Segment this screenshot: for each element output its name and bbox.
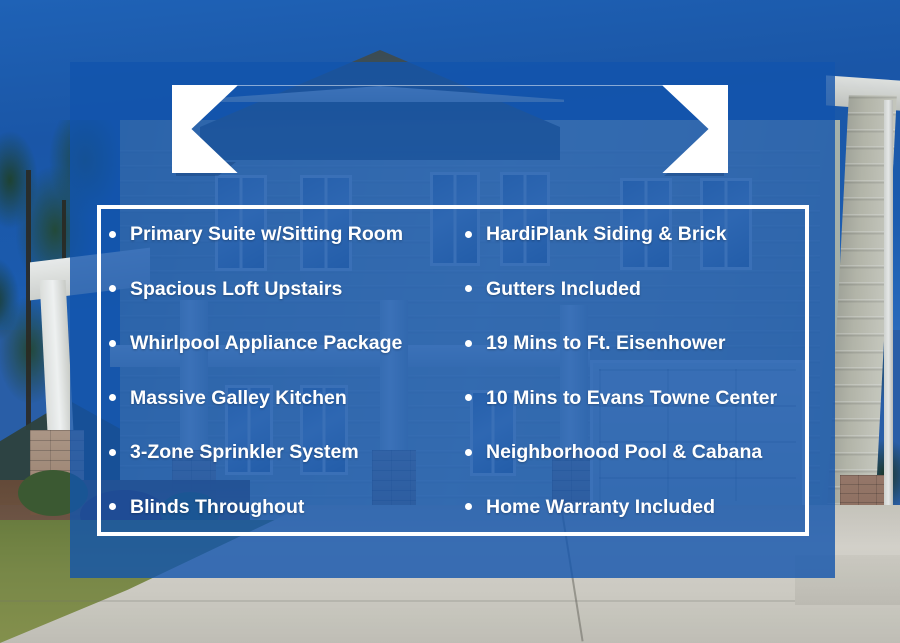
bullet-icon xyxy=(465,285,472,292)
feature-item: Neighborhood Pool & Cabana xyxy=(465,441,809,463)
feature-label: 3-Zone Sprinkler System xyxy=(130,441,359,463)
feature-item: Home Warranty Included xyxy=(465,496,809,518)
feature-label: Whirlpool Appliance Package xyxy=(130,332,402,354)
feature-label: Home Warranty Included xyxy=(486,496,715,518)
feature-label: Neighborhood Pool & Cabana xyxy=(486,441,762,463)
feature-item: Blinds Throughout xyxy=(109,496,453,518)
features-list: Primary Suite w/Sitting Room Spacious Lo… xyxy=(97,205,809,536)
feature-item: 3-Zone Sprinkler System xyxy=(109,441,453,463)
bullet-icon xyxy=(109,394,116,401)
feature-label: Massive Galley Kitchen xyxy=(130,387,347,409)
bullet-icon xyxy=(465,449,472,456)
bullet-icon xyxy=(465,394,472,401)
bullet-icon xyxy=(109,285,116,292)
bullet-icon xyxy=(109,340,116,347)
feature-label: Gutters Included xyxy=(486,278,641,300)
features-column-right: HardiPlank Siding & Brick Gutters Includ… xyxy=(453,223,809,518)
bullet-icon xyxy=(465,231,472,238)
feature-item: Gutters Included xyxy=(465,278,809,300)
feature-item: Spacious Loft Upstairs xyxy=(109,278,453,300)
bullet-icon xyxy=(109,503,116,510)
feature-label: 10 Mins to Evans Towne Center xyxy=(486,387,777,409)
feature-label: Primary Suite w/Sitting Room xyxy=(130,223,403,245)
bullet-icon xyxy=(465,340,472,347)
feature-item: HardiPlank Siding & Brick xyxy=(465,223,809,245)
feature-item: Whirlpool Appliance Package xyxy=(109,332,453,354)
bullet-icon xyxy=(109,449,116,456)
feature-item: 19 Mins to Ft. Eisenhower xyxy=(465,332,809,354)
plan-feature-graphic: Halton Plan Primary Suite w/Sitting Room… xyxy=(0,0,900,643)
bullet-icon xyxy=(465,503,472,510)
feature-item: 10 Mins to Evans Towne Center xyxy=(465,387,809,409)
bullet-icon xyxy=(109,231,116,238)
feature-label: 19 Mins to Ft. Eisenhower xyxy=(486,332,725,354)
features-column-left: Primary Suite w/Sitting Room Spacious Lo… xyxy=(97,223,453,518)
feature-item: Primary Suite w/Sitting Room xyxy=(109,223,453,245)
feature-label: Spacious Loft Upstairs xyxy=(130,278,342,300)
feature-label: Blinds Throughout xyxy=(130,496,304,518)
feature-label: HardiPlank Siding & Brick xyxy=(486,223,727,245)
feature-item: Massive Galley Kitchen xyxy=(109,387,453,409)
